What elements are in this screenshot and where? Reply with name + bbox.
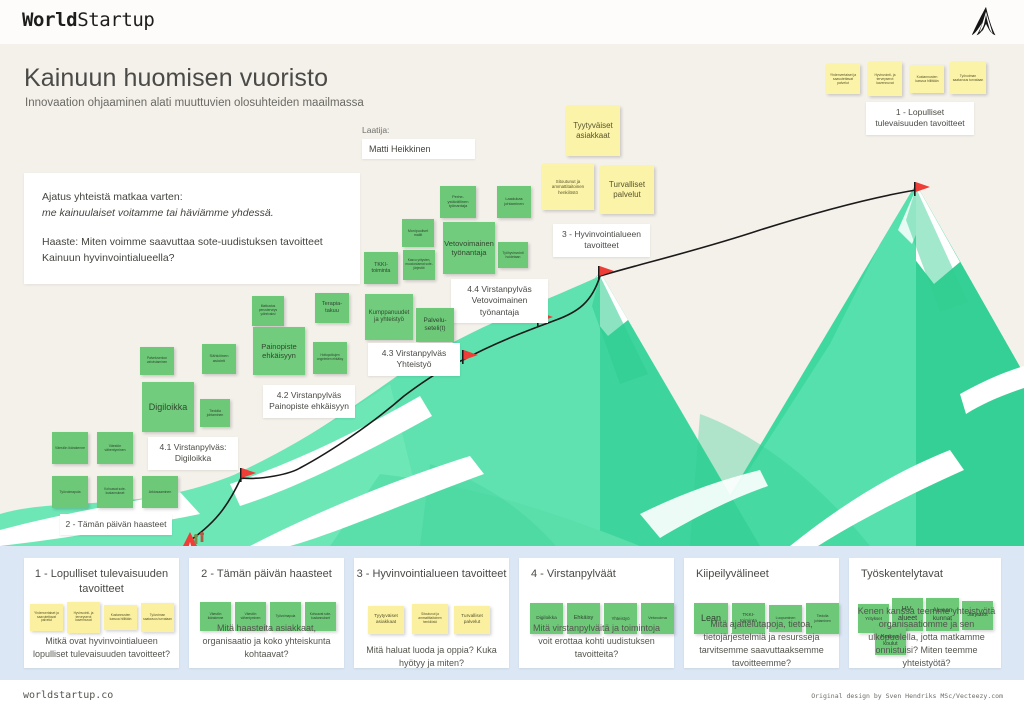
author-label: Laatija: <box>362 125 475 135</box>
panel-2-title: 2 - Tämän päivän haasteet <box>189 567 344 582</box>
panel-1-note-3[interactable]: Kustannusten kasvua hillitään <box>104 605 137 630</box>
caption-41: 4.1 Virstanpylväs: Digiloikka <box>148 437 238 470</box>
poster-canvas: Kainuun huomisen vuoristo Innovaation oh… <box>0 44 1024 546</box>
note-satisfied-customers[interactable]: Tyytyväiset asiakkaat <box>566 106 620 156</box>
note-44-family[interactable]: Perhe-ystävällinen työnantaja <box>440 186 476 218</box>
note-43-tkki[interactable]: TKKI-toiminta <box>364 252 398 284</box>
brand-bold: World <box>22 9 77 31</box>
note-42-therapy[interactable]: Terapia-takuu <box>315 293 349 323</box>
panel-3-note-2[interactable]: Sitoutunut ja ammattitaitoinen henkilöst… <box>412 604 448 634</box>
caption-challenges: 2 - Tämän päivän haasteet <box>60 514 172 535</box>
panel-4-title: 4 - Virstanpylväät <box>531 567 671 582</box>
note-ch-decline[interactable]: Väestön vähentyminen <box>97 432 133 464</box>
page-subtitle: Innovaation ohjaaminen alati muuttuvien … <box>25 97 364 109</box>
note-42-main[interactable]: Painopiste ehkäisyyn <box>253 327 305 375</box>
note-44-main[interactable]: Vetovoimainen työnantaja <box>443 222 495 274</box>
note-41-network[interactable]: Palveluverkon vahvistaminen <box>140 347 174 375</box>
caption-goals: 1 - Lopulliset tulevaisuuden tavoitteet <box>866 102 974 135</box>
note-41-echannel[interactable]: Sähköinen asiointi <box>202 344 236 374</box>
panel-1-question: Mitkä ovat hyvinvointialueen lopulliset … <box>30 635 173 661</box>
note-41-knowledge[interactable]: Tiedolla johtaminen <box>200 399 230 427</box>
panel-1-title: 1 - Lopulliset tulevaisuuden tavoitteet <box>24 567 179 597</box>
note-44-wellbeing[interactable]: Työhyvinvointi hoidetaan <box>498 242 528 268</box>
panel-2-question: Mitä haasteita asiakkaat, organisaatio j… <box>195 622 338 661</box>
panel-6-question: Kenen kanssa teemme yhteistyötä organisa… <box>855 605 998 670</box>
note-44-models[interactable]: Monipuoliset mallit <box>402 219 434 247</box>
note-goal-1[interactable]: Yhdenvertaiset ja saavutettavat palvelut <box>826 64 860 94</box>
poster-page: WorldStartup <box>0 0 1024 713</box>
intro-line-2: me kainuulaiset voitamme tai häviämme yh… <box>42 205 342 221</box>
panel-5-question: Mitä ajattelutapoja, tietoa, tietojärjes… <box>690 618 833 670</box>
note-ch-costs[interactable]: Kohoavat sote-kustannukset <box>97 476 133 508</box>
intro-line-3: Haaste: Miten voimme saavuttaa sote-uudi… <box>42 234 342 250</box>
panel-1-note-4[interactable]: Työvoiman saatavuus turvataan <box>141 603 174 632</box>
note-goal-4[interactable]: Työvoiman saatavuus turvataan <box>950 62 986 94</box>
note-ch-skills[interactable]: Arkiosaaminen <box>142 476 178 508</box>
panel-3-note-3[interactable]: Turvalliset palvelut <box>454 606 490 634</box>
page-footer: worldstartup.co Original design by Sven … <box>0 680 1024 713</box>
note-41-main[interactable]: Digiloikka <box>142 382 194 432</box>
note-43-growth[interactable]: Kasvu yritysten, muodostamat sote-järjes… <box>403 250 435 280</box>
author-input[interactable]: Matti Heikkinen <box>362 139 475 159</box>
note-43-main[interactable]: Kumppanuudet ja yhteistyö <box>365 294 413 340</box>
note-42-primary[interactable]: Hoitopolkujen ongelmien ehkäisy <box>313 342 347 374</box>
panel-4-question: Mitä virstanpylväitä ja toimintoja voit … <box>525 622 668 661</box>
bottom-panel-band: 1 - Lopulliset tulevaisuuden tavoitteet … <box>0 546 1024 680</box>
panel-1-note-1[interactable]: Yhdenvertaiset ja saavutettavat palvelut <box>30 604 63 631</box>
intro-box: Ajatus yhteistä matkaa varten: me kainuu… <box>24 173 360 284</box>
intro-line-4: Kainuun hyvinvointialueella? <box>42 250 342 266</box>
panel-5-title: Kiipeilyvälineet <box>696 567 836 582</box>
panel-1-note-2[interactable]: Hyvinvointi- ja terveyserot kavennuvat <box>67 602 100 633</box>
note-44-leadership[interactable]: Laadukas johtaminen <box>497 186 531 218</box>
footer-website[interactable]: worldstartup.co <box>23 690 113 701</box>
app-header: WorldStartup <box>0 0 1024 44</box>
footer-credit: Original design by Sven Hendriks MSc/Vec… <box>811 692 1003 700</box>
panel-6-title: Työskentelytavat <box>861 567 1001 582</box>
note-ch-age[interactable]: Väestön ikärakenne <box>52 432 88 464</box>
caption-wellbeing: 3 - Hyvinvointialueen tavoitteet <box>553 224 650 257</box>
note-goal-3[interactable]: Kustannusten kasvua hillitään <box>910 65 944 93</box>
note-committed-staff[interactable]: Sitoutunut ja ammattitaitoinen henkilöst… <box>542 164 594 210</box>
caption-44: 4.4 Virstanpylväs Vetovoimainen työnanta… <box>451 279 548 323</box>
author-field-group: Laatija: Matti Heikkinen <box>362 125 475 159</box>
page-title: Kainuun huomisen vuoristo <box>24 64 328 93</box>
note-ch-labour[interactable]: Työvoimapula <box>52 476 88 508</box>
caption-42: 4.2 Virstanpylväs Painopiste ehkäisyyn <box>263 385 355 418</box>
panel-3-title: 3 - Hyvinvointialueen tavoitteet <box>354 567 509 582</box>
brand-rest: Startup <box>77 9 154 31</box>
note-safe-services[interactable]: Turvalliset palvelut <box>600 166 654 214</box>
panel-3-note-1[interactable]: Tyytyväiset asiakkaat <box>368 606 404 634</box>
note-43-voucher[interactable]: Palvelu-seteli(t) <box>416 308 454 342</box>
caption-43: 4.3 Virstanpylväs Yhteistyö <box>368 343 460 376</box>
mountain-a-logo-icon <box>967 4 1005 40</box>
note-goal-2[interactable]: Hyvinvointi- ja terveyserot kavennuvat <box>868 62 902 96</box>
intro-line-1: Ajatus yhteistä matkaa varten: <box>42 189 342 205</box>
brand-logo[interactable]: WorldStartup <box>22 9 154 31</box>
note-42-pathways[interactable]: Matkustus perusterveys ydinrivaksi <box>252 296 284 326</box>
panel-3-question: Mitä haluat luoda ja oppia? Kuka hyötyy … <box>360 644 503 670</box>
